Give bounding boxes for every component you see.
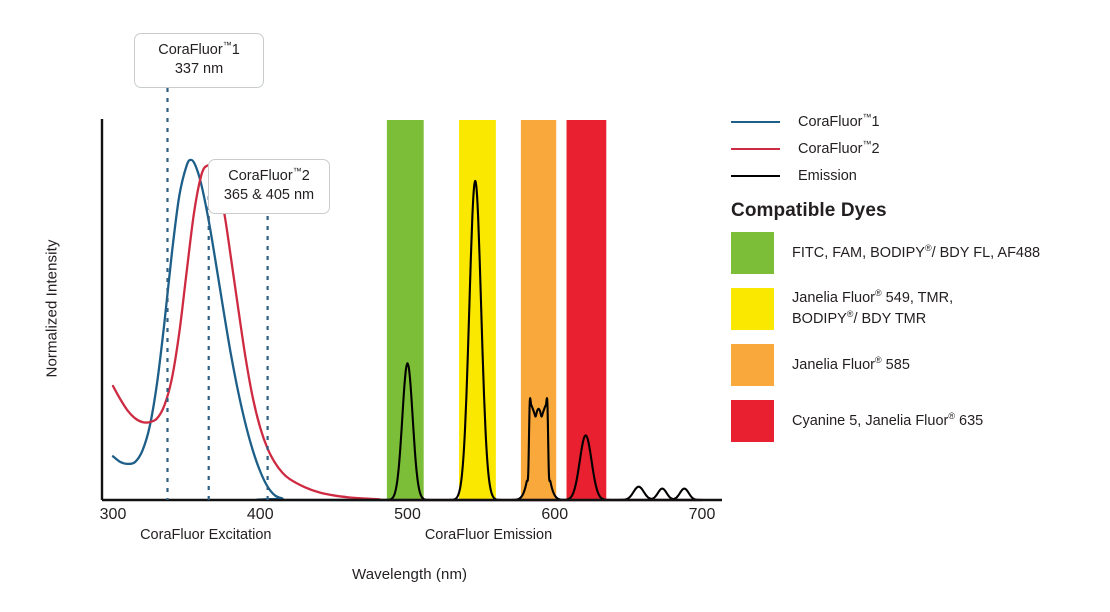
dye-color-swatch [731, 232, 774, 274]
green-band [387, 120, 424, 500]
legend-item-label: CoraFluor™1 [798, 114, 880, 130]
callout-cf2-label: CoraFluor™2 [222, 167, 316, 186]
dye-item-1[interactable]: Janelia Fluor® 549, TMR,BODIPY®/ BDY TMR [731, 288, 1109, 330]
chart-legend: CoraFluor™1CoraFluor™2Emission [731, 108, 1106, 189]
plot-area: Wavelength (nm) Normalized Intensity 300… [0, 0, 740, 612]
callout-corafluor-2: CoraFluor™2 365 & 405 nm [208, 159, 330, 214]
callout-corafluor-1: CoraFluor™1 337 nm [134, 33, 264, 88]
orange-band [521, 120, 556, 500]
x-tick-500: 500 [394, 506, 421, 524]
red-band [567, 120, 607, 500]
legend-item-label: Emission [798, 168, 857, 184]
callout-cf1-value: 337 nm [148, 60, 250, 79]
compatible-dyes-title: Compatible Dyes [731, 200, 887, 222]
callout-cf2-value: 365 & 405 nm [222, 186, 316, 205]
dye-item-label: Janelia Fluor® 549, TMR,BODIPY®/ BDY TMR [792, 288, 953, 329]
x-tick-300: 300 [100, 506, 127, 524]
x-tick-700: 700 [689, 506, 716, 524]
dye-item-3[interactable]: Cyanine 5, Janelia Fluor® 635 [731, 400, 1109, 442]
x-tick-400: 400 [247, 506, 274, 524]
legend-line-swatch [731, 148, 780, 150]
range-label-excitation: CoraFluor Excitation [140, 527, 271, 543]
legend-item-1[interactable]: CoraFluor™2 [731, 135, 1106, 162]
dye-color-swatch [731, 288, 774, 330]
callout-cf1-label: CoraFluor™1 [148, 41, 250, 60]
x-tick-600: 600 [541, 506, 568, 524]
legend-line-swatch [731, 175, 780, 177]
legend-item-label: CoraFluor™2 [798, 141, 880, 157]
y-axis-title: Normalized Intensity [43, 240, 60, 378]
compatible-dyes-list: FITC, FAM, BODIPY®/ BDY FL, AF488Janelia… [731, 232, 1109, 456]
legend-line-swatch [731, 121, 780, 123]
x-axis-title: Wavelength (nm) [352, 566, 467, 583]
dye-item-0[interactable]: FITC, FAM, BODIPY®/ BDY FL, AF488 [731, 232, 1109, 274]
dye-color-swatch [731, 344, 774, 386]
legend-item-0[interactable]: CoraFluor™1 [731, 108, 1106, 135]
dye-item-label: Janelia Fluor® 585 [792, 355, 910, 376]
dye-color-swatch [731, 400, 774, 442]
dye-item-label: FITC, FAM, BODIPY®/ BDY FL, AF488 [792, 243, 1040, 264]
range-label-emission: CoraFluor Emission [425, 527, 552, 543]
dye-item-2[interactable]: Janelia Fluor® 585 [731, 344, 1109, 386]
legend-item-2[interactable]: Emission [731, 162, 1106, 189]
dye-item-label: Cyanine 5, Janelia Fluor® 635 [792, 411, 983, 432]
